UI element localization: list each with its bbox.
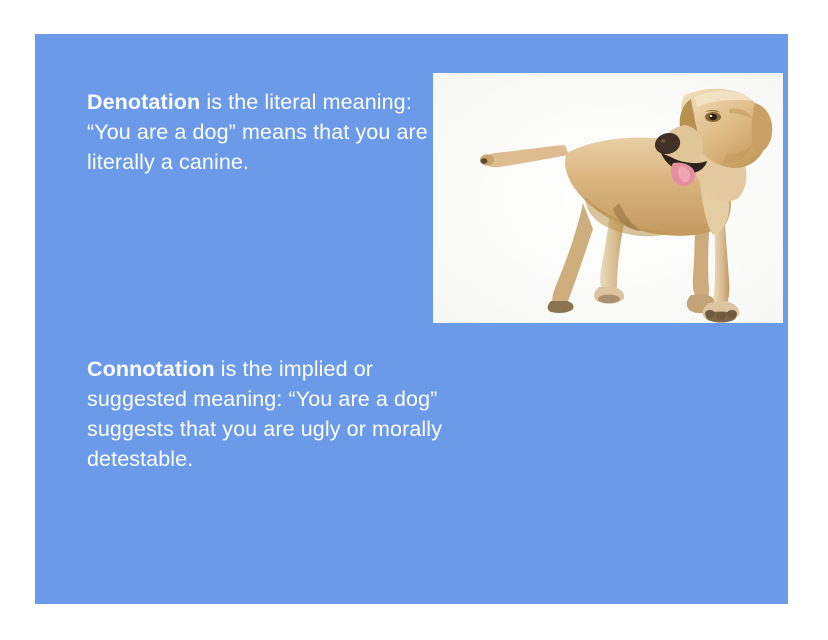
text-block-denotation: Denotation is the literal meaning: “You …	[87, 87, 437, 177]
presentation-slide: Denotation is the literal meaning: “You …	[35, 34, 788, 604]
term-connotation: Connotation	[87, 357, 215, 381]
dog-illustration	[433, 73, 783, 323]
text-block-connotation: Connotation is the implied or suggested …	[87, 354, 452, 474]
dog-photo	[433, 73, 783, 323]
term-denotation: Denotation	[87, 90, 200, 114]
slide-page: Denotation is the literal meaning: “You …	[0, 0, 828, 640]
